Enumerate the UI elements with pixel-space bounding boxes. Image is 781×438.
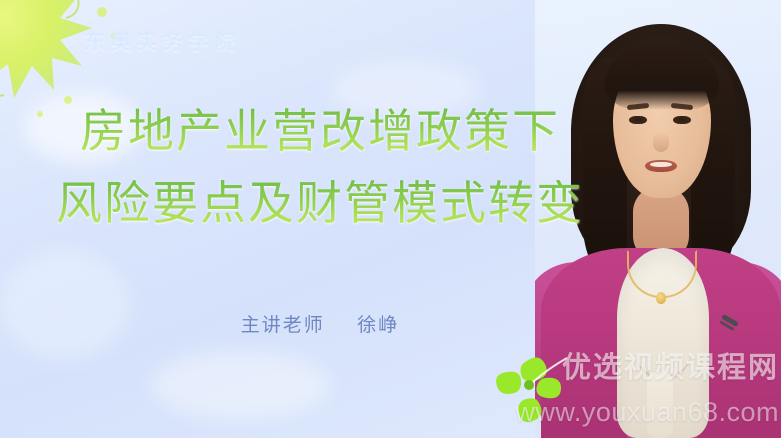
presenter-eye-right xyxy=(673,116,691,124)
presenter-name: 徐峥 xyxy=(357,315,399,336)
green-splash-burst-icon xyxy=(0,0,146,125)
background-blotch xyxy=(330,60,480,120)
presenter-hair-fringe xyxy=(605,44,719,110)
background-blotch xyxy=(24,92,144,164)
presenter-scarf-tail xyxy=(647,372,673,438)
presenter-necklace-pendant xyxy=(656,292,666,304)
background-blotch xyxy=(150,350,330,420)
presenter-mouth xyxy=(645,160,677,172)
presenter-eye-left xyxy=(629,116,647,124)
background-blotch xyxy=(0,250,130,360)
presenter-role-label: 主讲老师 xyxy=(241,315,325,336)
presenter-nose xyxy=(653,132,669,152)
video-slide-frame: 东奥实务学院 东奥会计在线 www.dongao.com xyxy=(0,0,781,438)
presenter-video-figure xyxy=(535,0,781,438)
faint-institute-watermark: 东奥实务学院 xyxy=(84,26,240,56)
